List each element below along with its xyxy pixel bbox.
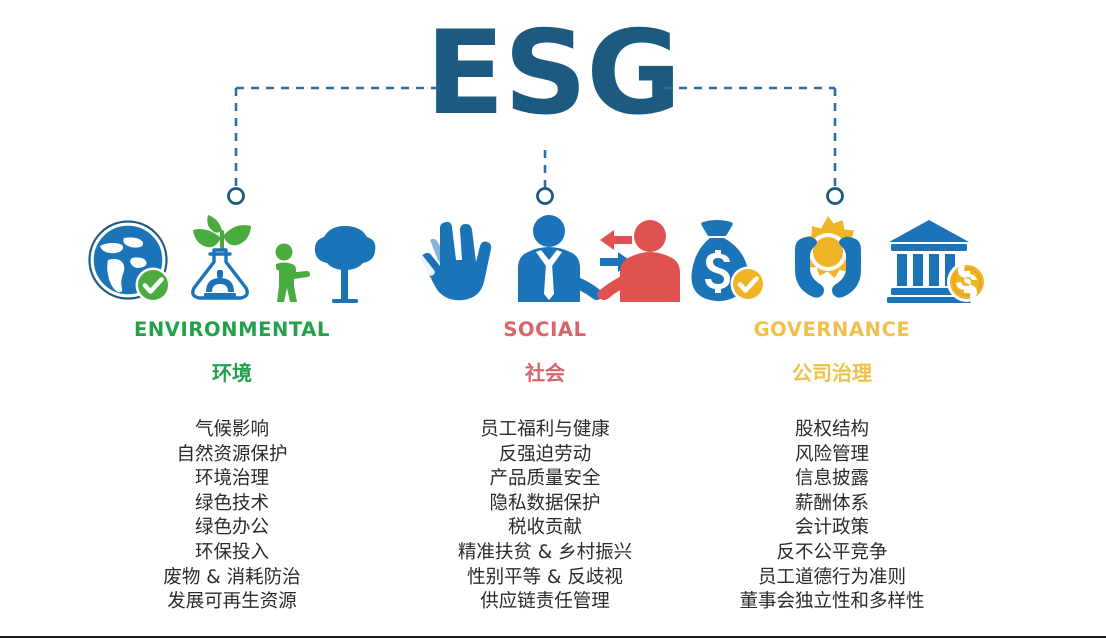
environmental-icon-row (62, 208, 402, 304)
list-item: 薪酬体系 (662, 492, 1002, 517)
list-item: 环境治理 (62, 467, 402, 492)
list-item: 绿色技术 (62, 492, 402, 517)
connector-node-center (538, 189, 553, 204)
connector-node-right (828, 189, 843, 204)
environmental-item-list: 气候影响 自然资源保护 环境治理 绿色技术 绿色办公 环保投入 废物 & 消耗防… (62, 418, 402, 615)
esg-infographic: ESG (0, 0, 1106, 638)
hands-gear-icon (773, 212, 883, 304)
bank-coin-icon (887, 216, 987, 304)
list-item: 发展可再生资源 (62, 590, 402, 615)
list-item: 气候影响 (62, 418, 402, 443)
list-item: 废物 & 消耗防治 (62, 566, 402, 591)
connector-node-left (229, 189, 244, 204)
handshake-people-icon (504, 214, 682, 304)
list-item: 会计政策 (662, 516, 1002, 541)
list-item: 自然资源保护 (62, 443, 402, 468)
governance-icon-row (662, 208, 1002, 304)
list-item: 董事会独立性和多样性 (662, 590, 1002, 615)
list-item: 环保投入 (62, 541, 402, 566)
list-item: 员工道德行为准则 (662, 566, 1002, 591)
flask-plant-icon (178, 210, 262, 304)
tree-icon (314, 224, 376, 304)
list-item: 股权结构 (662, 418, 1002, 443)
page-title: ESG (0, 16, 1106, 132)
heading-environmental-en: ENVIRONMENTAL (62, 318, 402, 341)
governance-item-list: 股权结构 风险管理 信息披露 薪酬体系 会计政策 反不公平竞争 员工道德行为准则… (662, 418, 1002, 615)
heading-environmental-cn: 环境 (62, 357, 402, 386)
money-bag-check-icon (677, 216, 769, 304)
heading-governance-cn: 公司治理 (662, 357, 1002, 386)
list-item: 风险管理 (662, 443, 1002, 468)
globe-check-icon (88, 220, 174, 304)
column-governance: GOVERNANCE 公司治理 股权结构 风险管理 信息披露 薪酬体系 会计政策… (662, 208, 1002, 615)
list-item: 绿色办公 (62, 516, 402, 541)
list-item: 信息披露 (662, 467, 1002, 492)
heading-governance-en: GOVERNANCE (662, 318, 1002, 341)
column-environmental: ENVIRONMENTAL 环境 气候影响 自然资源保护 环境治理 绿色技术 绿… (62, 208, 402, 615)
helping-hand-icon (408, 216, 500, 304)
person-icon (266, 242, 310, 304)
list-item: 反不公平竞争 (662, 541, 1002, 566)
